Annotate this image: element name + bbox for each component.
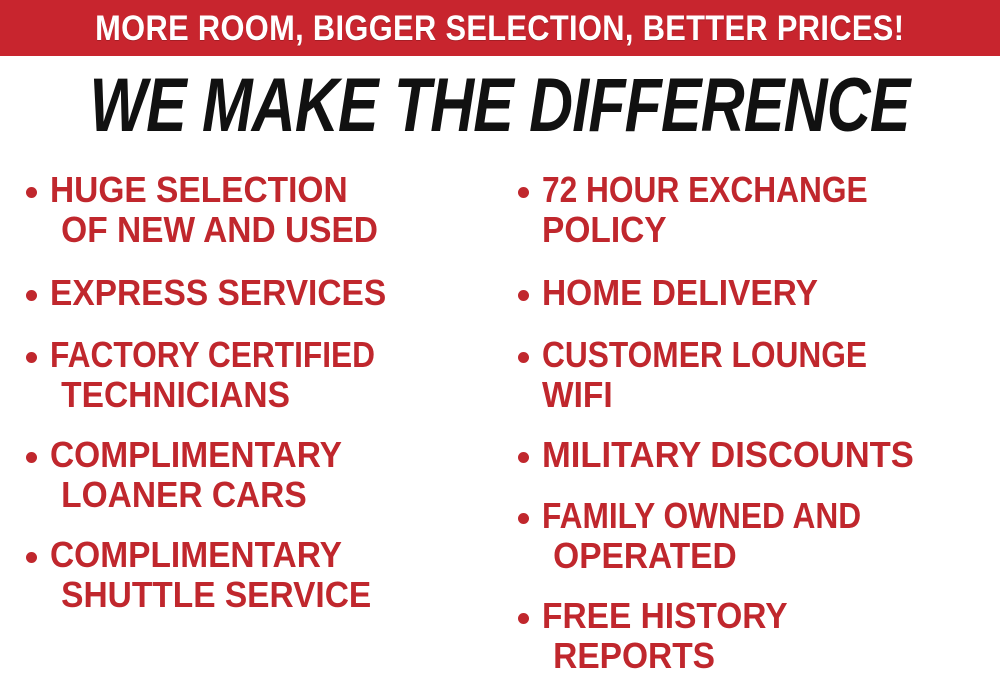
- features-columns: HUGE SELECTION OF NEW AND USED EXPRESS S…: [0, 160, 1000, 694]
- list-item-line-2: OPERATED: [542, 536, 879, 576]
- list-item-line-1: COMPLIMENTARY: [50, 535, 371, 575]
- bullet-dot-icon: [518, 513, 529, 524]
- list-item-line-2: SHUTTLE SERVICE: [50, 575, 371, 615]
- bullet-dot-icon: [518, 613, 529, 624]
- list-item-line-1: EXPRESS SERVICES: [50, 273, 386, 313]
- list-item-line-1: FREE HISTORY: [542, 596, 788, 636]
- list-item-line-1: COMPLIMENTARY: [50, 435, 342, 475]
- list-item-line-1: HOME DELIVERY: [542, 273, 818, 313]
- list-item-line-2: TECHNICIANS: [50, 375, 394, 415]
- features-column-right: 72 HOUR EXCHANGE POLICY HOME DELIVERY: [500, 160, 1000, 694]
- bullet-dot-icon: [26, 352, 37, 363]
- list-item: COMPLIMENTARY LOANER CARS: [8, 435, 364, 515]
- list-item: COMPLIMENTARY SHUTTLE SERVICE: [8, 535, 395, 615]
- bullet-dot-icon: [518, 452, 529, 463]
- list-item-line-1: CUSTOMER LOUNGE: [542, 335, 867, 375]
- top-banner: MORE ROOM, BIGGER SELECTION, BETTER PRIC…: [0, 0, 1000, 56]
- list-item: FAMILY OWNED AND OPERATED: [500, 496, 905, 576]
- bullet-dot-icon: [518, 352, 529, 363]
- bullet-dot-icon: [518, 290, 529, 301]
- list-item-line-2: REPORTS: [542, 636, 788, 676]
- list-item-line-2: LOANER CARS: [50, 475, 342, 515]
- list-item: FREE HISTORY REPORTS: [500, 596, 806, 676]
- features-column-left: HUGE SELECTION OF NEW AND USED EXPRESS S…: [8, 160, 500, 694]
- list-item: CUSTOMER LOUNGE WIFI: [500, 335, 911, 415]
- list-item-line-1: 72 HOUR EXCHANGE: [542, 170, 868, 210]
- bullet-dot-icon: [518, 187, 529, 198]
- bullet-dot-icon: [26, 290, 37, 301]
- list-item-line-2: POLICY: [542, 210, 886, 250]
- list-item-line-1: FAMILY OWNED AND: [542, 496, 861, 536]
- list-item: 72 HOUR EXCHANGE POLICY: [500, 170, 912, 250]
- list-item-line-2: WIFI: [542, 375, 886, 415]
- list-item: MILITARY DISCOUNTS: [500, 435, 929, 475]
- list-item: FACTORY CERTIFIED TECHNICIANS: [8, 335, 419, 415]
- list-item-line-1: HUGE SELECTION: [50, 170, 378, 210]
- promo-poster: MORE ROOM, BIGGER SELECTION, BETTER PRIC…: [0, 0, 1000, 694]
- list-item: HOME DELIVERY: [500, 273, 839, 313]
- bullet-dot-icon: [26, 452, 37, 463]
- list-item-line-2: OF NEW AND USED: [50, 210, 378, 250]
- list-item-line-1: FACTORY CERTIFIED: [50, 335, 375, 375]
- list-item-line-1: MILITARY DISCOUNTS: [542, 435, 914, 475]
- page-title: WE MAKE THE DIFFERENCE: [90, 68, 910, 144]
- list-item: HUGE SELECTION OF NEW AND USED: [8, 170, 403, 250]
- bullet-dot-icon: [26, 552, 37, 563]
- bullet-dot-icon: [26, 187, 37, 198]
- list-item: EXPRESS SERVICES: [8, 273, 411, 313]
- headline-container: WE MAKE THE DIFFERENCE: [0, 62, 1000, 150]
- banner-headline: MORE ROOM, BIGGER SELECTION, BETTER PRIC…: [95, 11, 904, 46]
